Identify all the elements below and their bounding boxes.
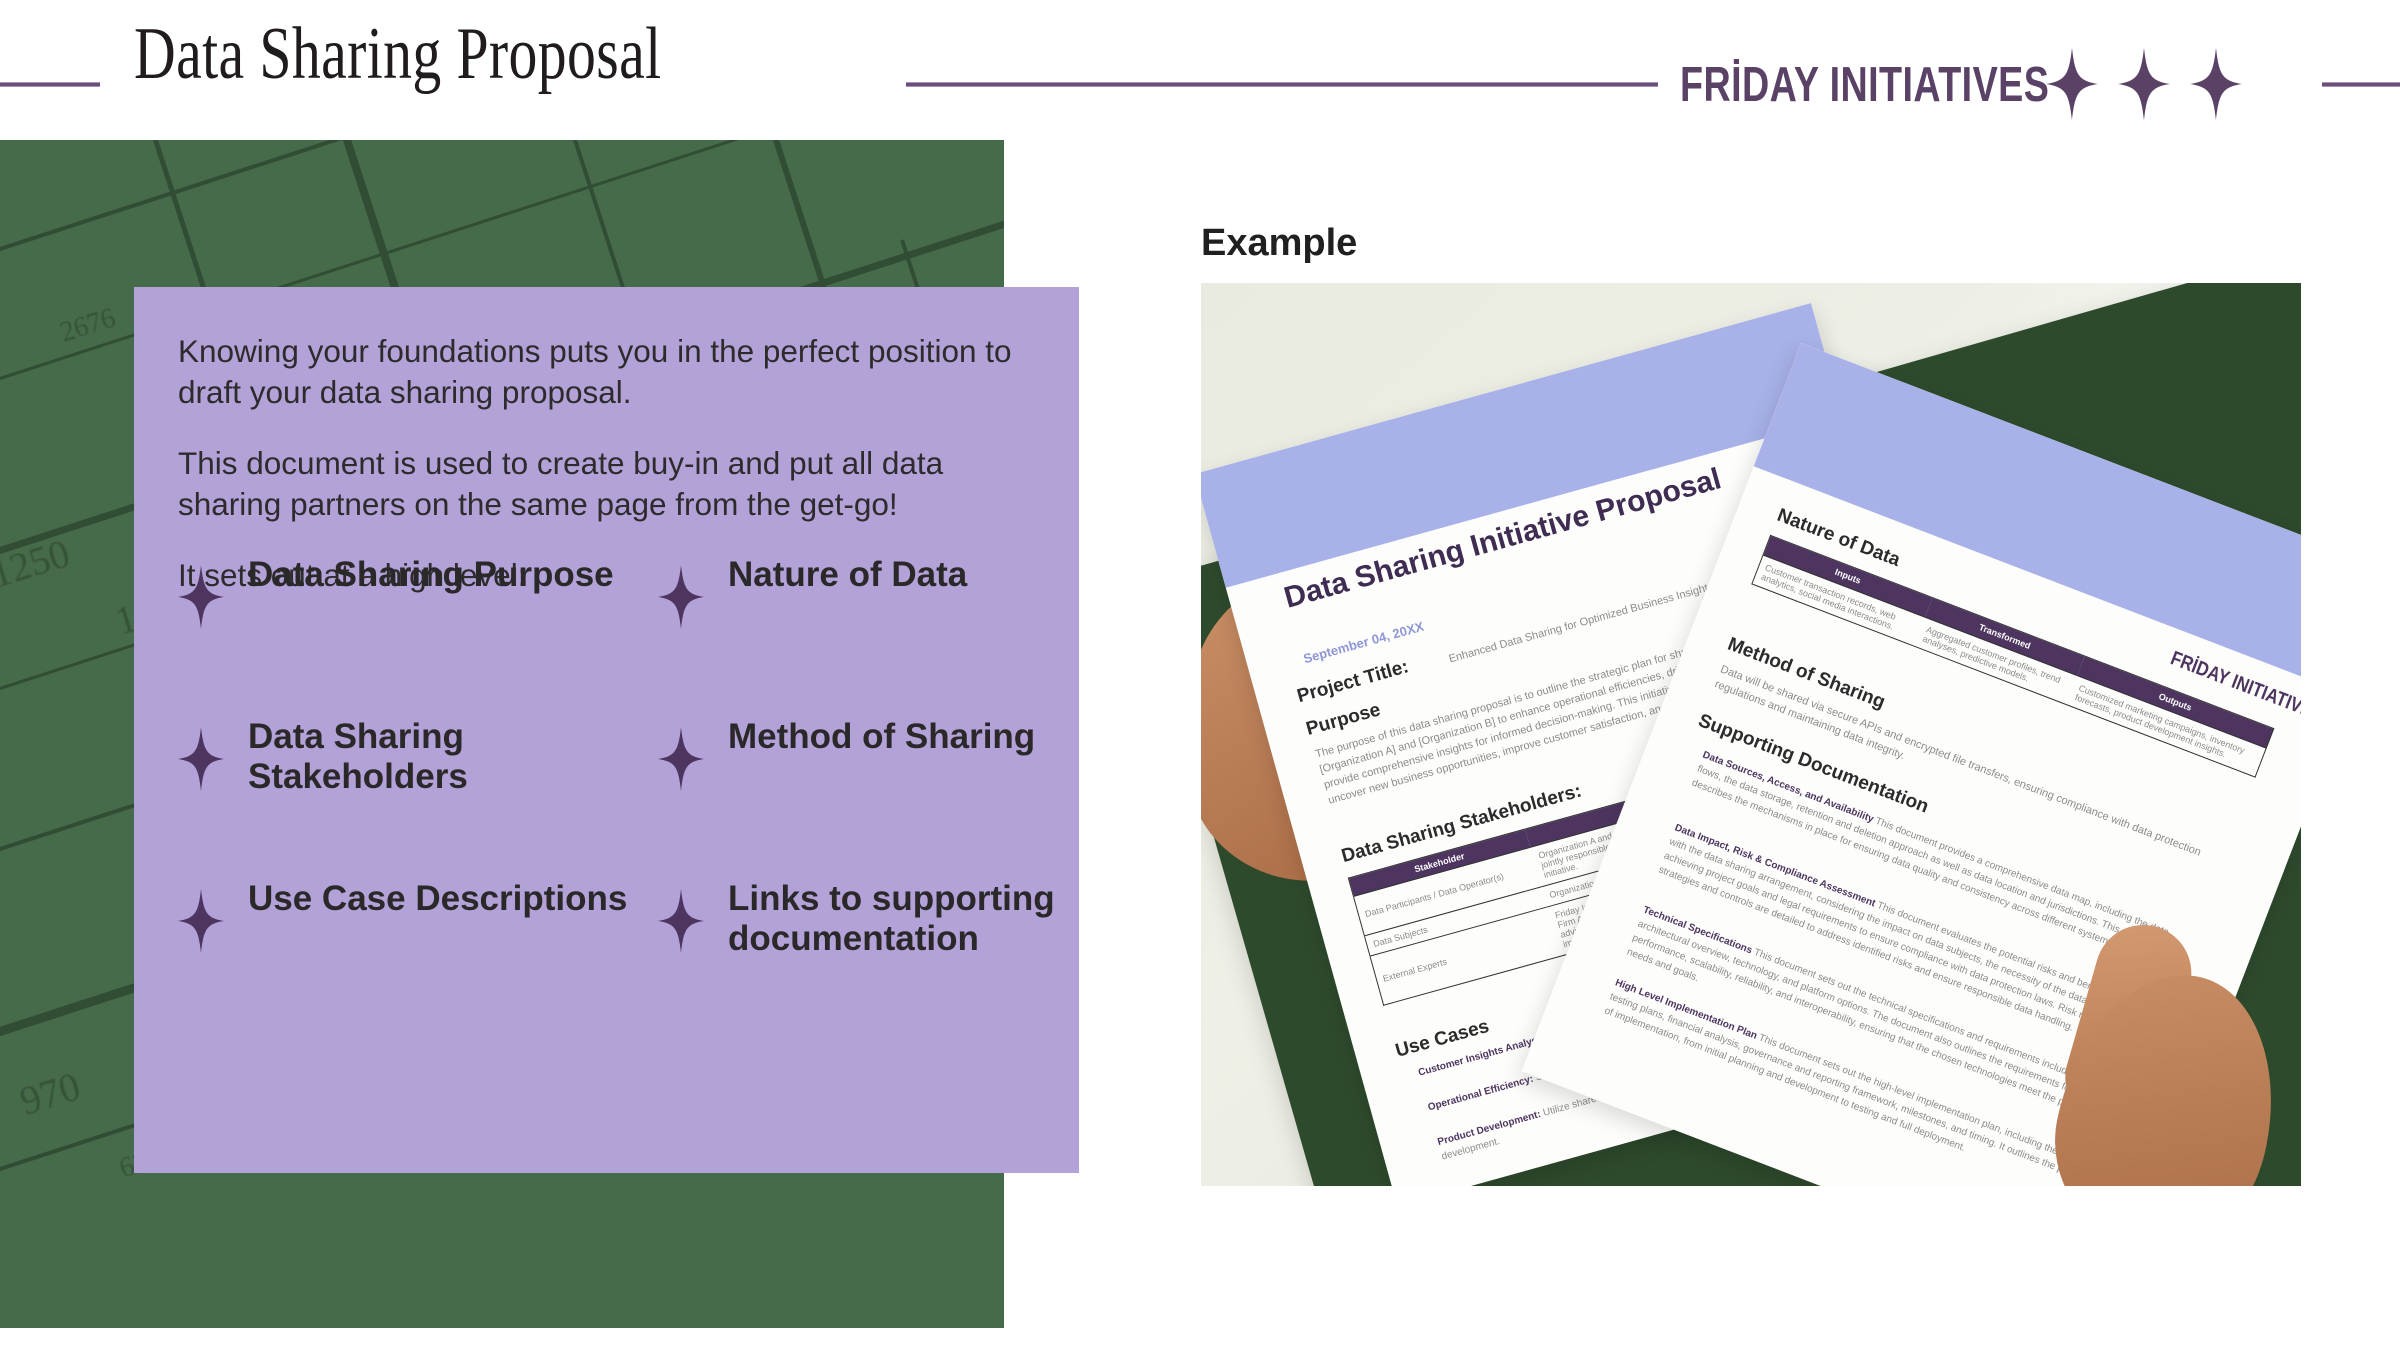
bullet-item: Data Sharing Purpose [178, 555, 658, 717]
bullet-item: Nature of Data [658, 555, 1058, 717]
brand-logo: FRİDAY INITIATIVES [1680, 48, 2242, 120]
bullet-label: Method of Sharing [728, 717, 1035, 757]
bullet-label: Links to supporting documentation [728, 879, 1058, 959]
document-date: September 04, 20XX [1302, 619, 1426, 667]
header-rule-left [0, 82, 100, 87]
bullet-label: Nature of Data [728, 555, 967, 595]
sparkle-star-icon [2046, 48, 2098, 120]
bullet-label: Data Sharing Stakeholders [248, 717, 658, 797]
example-label: Example [1201, 222, 1357, 265]
bullet-item: Use Case Descriptions [178, 879, 658, 1041]
bullet-item: Method of Sharing [658, 717, 1058, 879]
brand-name: FRİDAY INITIATIVES [1680, 55, 2049, 112]
bullet-list: Data Sharing Purpose Nature of Data Data… [178, 555, 1058, 1041]
bullet-item: Links to supporting documentation [658, 879, 1058, 1041]
sparkle-star-icon [2118, 48, 2170, 120]
sparkle-star-icon [658, 889, 704, 958]
sparkle-star-icon [658, 727, 704, 796]
header-rule-middle [906, 82, 1658, 87]
sparkle-star-icon [178, 889, 224, 958]
example-photo: Data Sharing Initiative Proposal Septemb… [1201, 283, 2301, 1186]
header-rule-right [2322, 82, 2400, 87]
slide-header: Data Sharing Proposal FRİDAY INITIATIVES [0, 0, 2400, 142]
slide-root: Data Sharing Proposal FRİDAY INITIATIVES [0, 0, 2400, 1350]
bullet-item: Data Sharing Stakeholders [178, 717, 658, 879]
card-paragraph: Knowing your foundations puts you in the… [178, 331, 1027, 413]
sparkle-star-icon [658, 565, 704, 634]
content-card: Knowing your foundations puts you in the… [134, 287, 1079, 1173]
bullet-label: Data Sharing Purpose [248, 555, 614, 595]
bullet-label: Use Case Descriptions [248, 879, 627, 919]
brand-sparkles [2046, 48, 2242, 120]
use-case-name: Operational Efficiency: [1427, 1074, 1535, 1114]
card-paragraph: This document is used to create buy-in a… [178, 443, 1027, 525]
sparkle-star-icon [2190, 48, 2242, 120]
page-title: Data Sharing Proposal [134, 17, 662, 91]
sparkle-star-icon [178, 727, 224, 796]
sparkle-star-icon [178, 565, 224, 634]
